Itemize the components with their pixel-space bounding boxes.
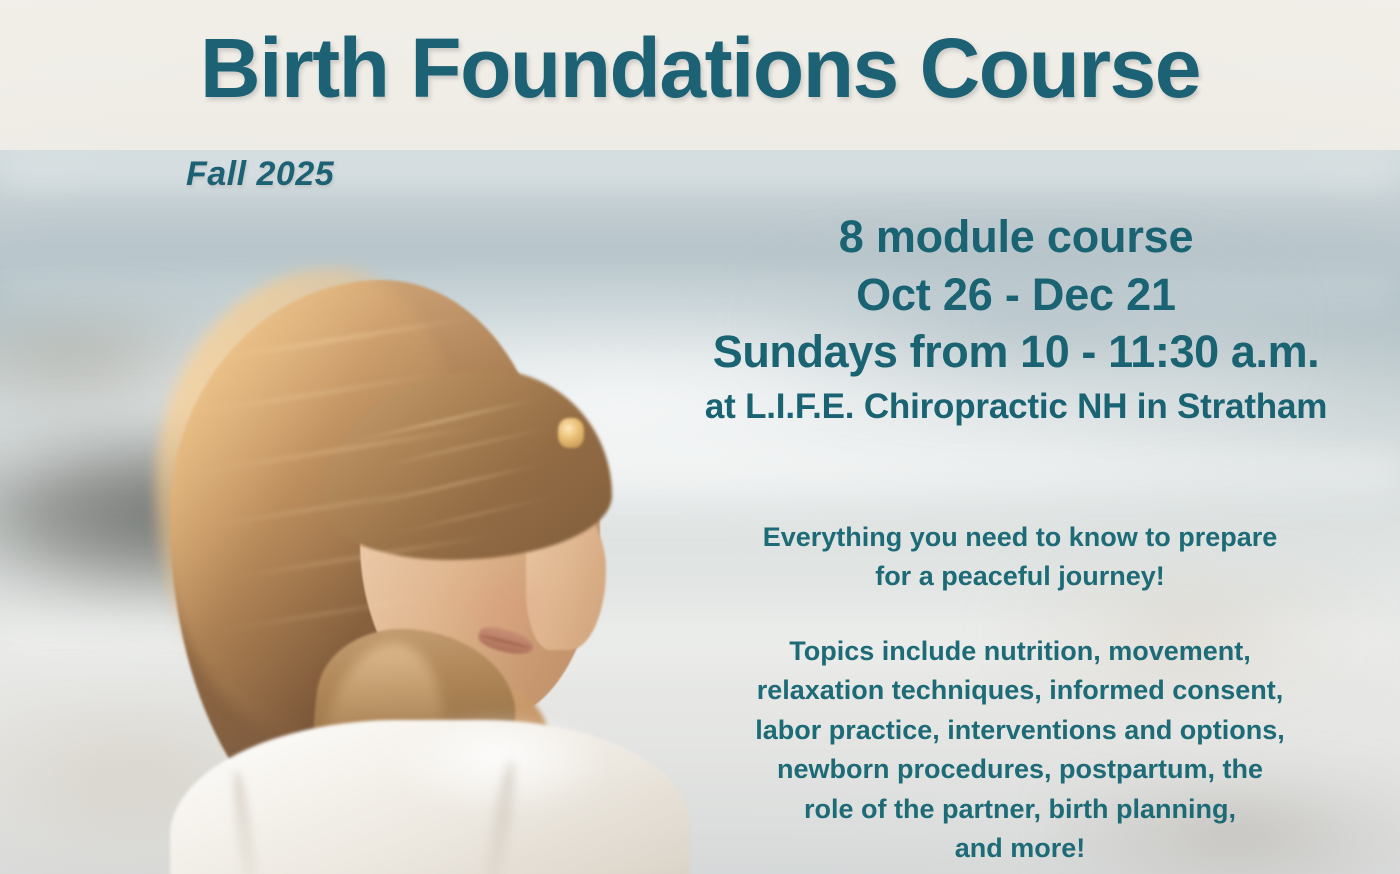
topics-line: Topics include nutrition, movement, [660,632,1380,671]
topics-list: Topics include nutrition, movement, rela… [660,632,1380,868]
tagline: Everything you need to know to prepare f… [660,518,1380,596]
hair-clip [558,418,584,448]
promotional-poster: Birth Foundations Course Fall 2025 8 mod… [0,0,1400,874]
tagline-line-2: for a peaceful journey! [660,557,1380,596]
detail-date-range: Oct 26 - Dec 21 [640,266,1392,324]
course-details: 8 module course Oct 26 - Dec 21 Sundays … [640,208,1392,429]
topics-line: newborn procedures, postpartum, the [660,750,1380,789]
tagline-line-1: Everything you need to know to prepare [660,518,1380,557]
page-title: Birth Foundations Course [0,24,1400,112]
topics-line: and more! [660,829,1380,868]
topics-line: labor practice, interventions and option… [660,711,1380,750]
detail-modules: 8 module course [640,208,1392,266]
season-subtitle: Fall 2025 [186,155,334,194]
topics-line: relaxation techniques, informed consent, [660,671,1380,710]
detail-location: at L.I.F.E. Chiropractic NH in Stratham [640,384,1392,430]
hair-wisps [70,240,551,721]
woman-portrait [60,250,700,874]
detail-time: Sundays from 10 - 11:30 a.m. [640,323,1392,382]
topics-line: role of the partner, birth planning, [660,790,1380,829]
